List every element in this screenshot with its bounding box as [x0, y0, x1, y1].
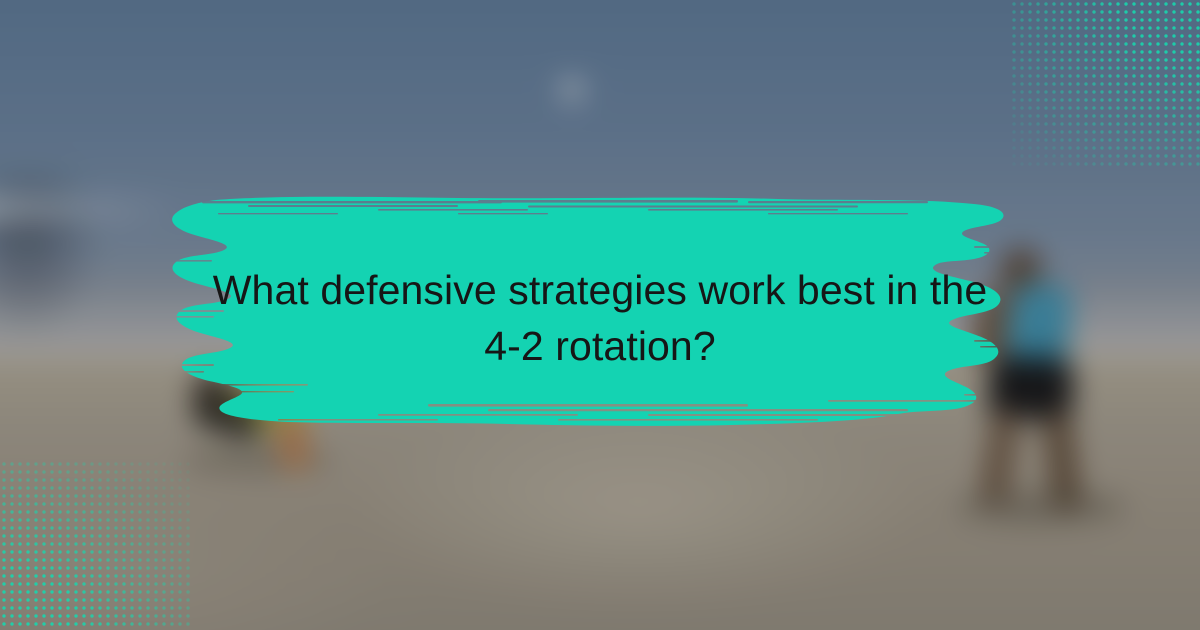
halftone-dots-bottom-left-icon [0, 460, 190, 630]
page-title: What defensive strategies work best in t… [150, 262, 1050, 374]
question-card: What defensive strategies work best in t… [0, 0, 1200, 630]
halftone-dots-top-right-icon [1010, 0, 1200, 170]
